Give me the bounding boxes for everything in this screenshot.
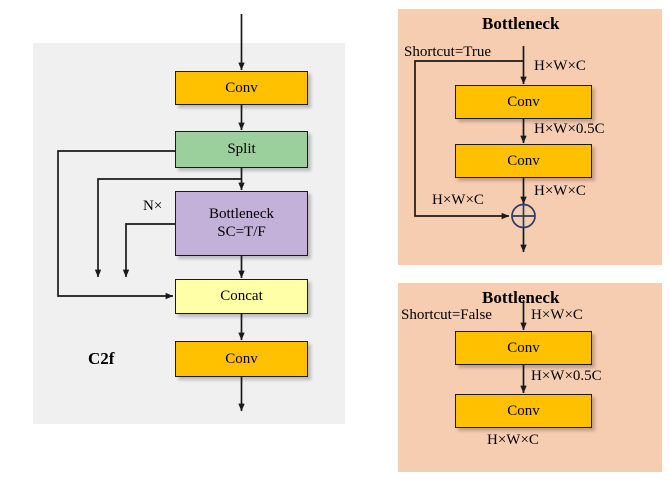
bottleneck-false-conv1-label: Conv bbox=[507, 340, 540, 356]
c2f-concat-label: Concat bbox=[220, 288, 263, 304]
bottleneck-true-shortcut-label: Shortcut=True bbox=[404, 44, 491, 61]
bottleneck-false-conv1-block: Conv bbox=[455, 331, 592, 365]
diagram-canvas: Conv Split Bottleneck SC=T/F Concat Conv… bbox=[0, 0, 669, 483]
bottleneck-true-input-dim: H×W×C bbox=[534, 58, 586, 75]
bottleneck-true-middle-dim: H×W×0.5C bbox=[534, 121, 605, 138]
bottleneck-false-middle-dim: H×W×0.5C bbox=[531, 368, 602, 385]
c2f-conv-top-block: Conv bbox=[175, 71, 308, 105]
bottleneck-false-shortcut-label: Shortcut=False bbox=[401, 307, 492, 324]
c2f-conv-top-label: Conv bbox=[225, 80, 258, 96]
bottleneck-true-conv2-block: Conv bbox=[455, 144, 592, 178]
bottleneck-true-shortcut-dim: H×W×C bbox=[432, 192, 484, 209]
c2f-concat-block: Concat bbox=[175, 279, 308, 314]
bottleneck-true-title: Bottleneck bbox=[482, 14, 559, 34]
c2f-bottleneck-block: Bottleneck SC=T/F bbox=[175, 191, 308, 256]
c2f-split-label: Split bbox=[227, 141, 255, 157]
c2f-bottleneck-sublabel: SC=T/F bbox=[217, 224, 265, 242]
bottleneck-true-conv1-block: Conv bbox=[455, 85, 592, 119]
c2f-bottleneck-label: Bottleneck bbox=[209, 206, 274, 224]
bottleneck-false-conv2-label: Conv bbox=[507, 403, 540, 419]
bottleneck-true-conv1-label: Conv bbox=[507, 94, 540, 110]
bottleneck-true-output-dim: H×W×C bbox=[534, 183, 586, 200]
c2f-conv-bottom-block: Conv bbox=[175, 341, 308, 377]
c2f-split-block: Split bbox=[175, 131, 308, 168]
bottleneck-false-conv2-block: Conv bbox=[455, 394, 592, 428]
bottleneck-true-conv2-label: Conv bbox=[507, 153, 540, 169]
c2f-conv-bottom-label: Conv bbox=[225, 351, 258, 367]
c2f-repeat-count-label: N× bbox=[143, 198, 162, 215]
bottleneck-false-title: Bottleneck bbox=[482, 288, 559, 308]
bottleneck-false-input-dim: H×W×C bbox=[531, 307, 583, 324]
bottleneck-false-output-dim: H×W×C bbox=[487, 432, 539, 449]
c2f-module-title: C2f bbox=[88, 349, 114, 369]
